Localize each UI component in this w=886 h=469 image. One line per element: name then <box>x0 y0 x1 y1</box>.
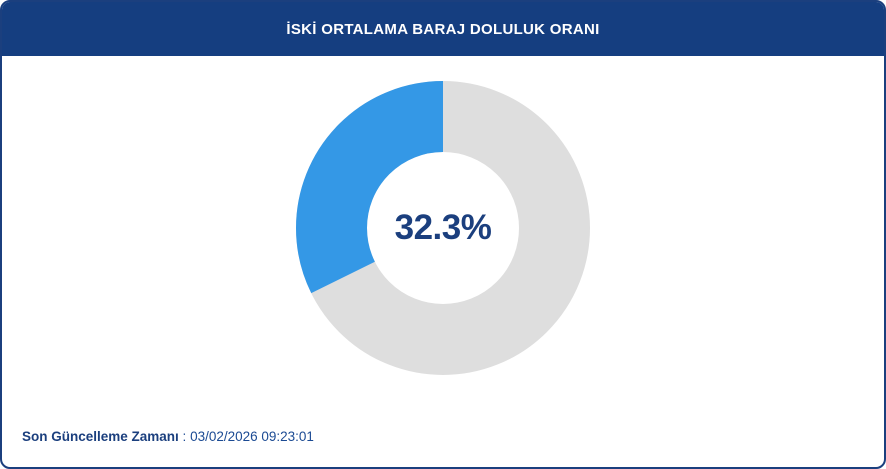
donut-chart: 32.3% <box>295 80 591 376</box>
page-title: İSKİ ORTALAMA BARAJ DOLULUK ORANI <box>286 21 599 38</box>
last-update-timestamp: 03/02/2026 09:23:01 <box>190 429 314 444</box>
card-body: 32.3% <box>2 56 884 405</box>
last-update-line: Son Güncelleme Zamanı : 03/02/2026 09:23… <box>22 429 314 444</box>
card-footer: Son Güncelleme Zamanı : 03/02/2026 09:23… <box>2 405 884 467</box>
dam-occupancy-card: İSKİ ORTALAMA BARAJ DOLULUK ORANI 32.3% … <box>0 0 886 469</box>
last-update-separator: : <box>179 429 190 444</box>
card-header: İSKİ ORTALAMA BARAJ DOLULUK ORANI <box>2 2 884 56</box>
last-update-label: Son Güncelleme Zamanı <box>22 429 179 444</box>
donut-chart-svg <box>295 80 591 376</box>
chart-container: 32.3% <box>2 80 884 376</box>
